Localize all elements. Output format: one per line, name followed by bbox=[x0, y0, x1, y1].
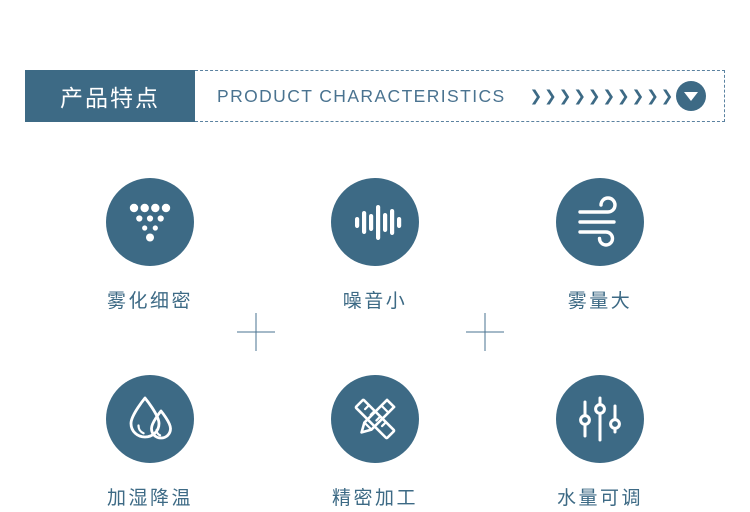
feature-row-bottom: 加湿降温 bbox=[60, 375, 690, 510]
chevron-right-icon: ❯ bbox=[602, 89, 615, 104]
feature-label: 雾化细密 bbox=[107, 286, 193, 313]
chevron-right-icon: ❯ bbox=[544, 89, 557, 104]
feature-icon-circle bbox=[556, 375, 644, 463]
chevron-right-icon: ❯ bbox=[559, 89, 572, 104]
sliders-icon bbox=[570, 389, 630, 449]
feature-icon-circle bbox=[106, 178, 194, 266]
feature-grid: 雾化细密 bbox=[60, 178, 690, 510]
caret-down-icon bbox=[684, 92, 698, 101]
chevron-arrows: ❯❯❯❯❯❯❯❯❯❯ bbox=[530, 89, 674, 104]
feature-label: 精密加工 bbox=[332, 483, 418, 510]
header-english-title: PRODUCT CHARACTERISTICS bbox=[217, 86, 506, 107]
dropdown-toggle-button[interactable] bbox=[676, 81, 706, 111]
header-bar: PRODUCT CHARACTERISTICS ❯❯❯❯❯❯❯❯❯❯ bbox=[195, 70, 725, 122]
chevron-right-icon: ❯ bbox=[588, 89, 601, 104]
feature-item-atomization[interactable]: 雾化细密 bbox=[60, 178, 240, 313]
header-badge-title: 产品特点 bbox=[60, 79, 160, 113]
chevron-right-icon: ❯ bbox=[646, 89, 659, 104]
plus-separator-icon bbox=[237, 313, 275, 351]
wind-lines-icon bbox=[570, 192, 630, 252]
header-badge: 产品特点 bbox=[25, 70, 195, 122]
ruler-pencil-icon bbox=[345, 389, 405, 449]
chevron-right-icon: ❯ bbox=[632, 89, 645, 104]
feature-icon-circle bbox=[331, 178, 419, 266]
feature-label: 雾量大 bbox=[568, 286, 633, 313]
feature-item-precision[interactable]: 精密加工 bbox=[285, 375, 465, 510]
product-characteristics-page: 产品特点 PRODUCT CHARACTERISTICS ❯❯❯❯❯❯❯❯❯❯ bbox=[0, 0, 750, 512]
feature-icon-circle bbox=[556, 178, 644, 266]
chevron-right-icon: ❯ bbox=[661, 89, 674, 104]
feature-item-low-noise[interactable]: 噪音小 bbox=[285, 178, 465, 313]
mist-dots-icon bbox=[120, 192, 180, 252]
sound-wave-icon bbox=[345, 192, 405, 252]
feature-item-humidify[interactable]: 加湿降温 bbox=[60, 375, 240, 510]
feature-row-top: 雾化细密 bbox=[60, 178, 690, 313]
chevron-right-icon: ❯ bbox=[530, 89, 543, 104]
feature-item-mist-volume[interactable]: 雾量大 bbox=[510, 178, 690, 313]
plus-separator-icon bbox=[466, 313, 504, 351]
chevron-right-icon: ❯ bbox=[573, 89, 586, 104]
chevron-right-icon: ❯ bbox=[617, 89, 630, 104]
feature-label: 噪音小 bbox=[343, 286, 408, 313]
feature-icon-circle bbox=[331, 375, 419, 463]
feature-label: 加湿降温 bbox=[107, 483, 193, 510]
feature-label: 水量可调 bbox=[557, 483, 643, 510]
feature-item-adjustable[interactable]: 水量可调 bbox=[510, 375, 690, 510]
feature-icon-circle bbox=[106, 375, 194, 463]
water-drops-icon bbox=[120, 389, 180, 449]
section-header: 产品特点 PRODUCT CHARACTERISTICS ❯❯❯❯❯❯❯❯❯❯ bbox=[25, 70, 725, 122]
